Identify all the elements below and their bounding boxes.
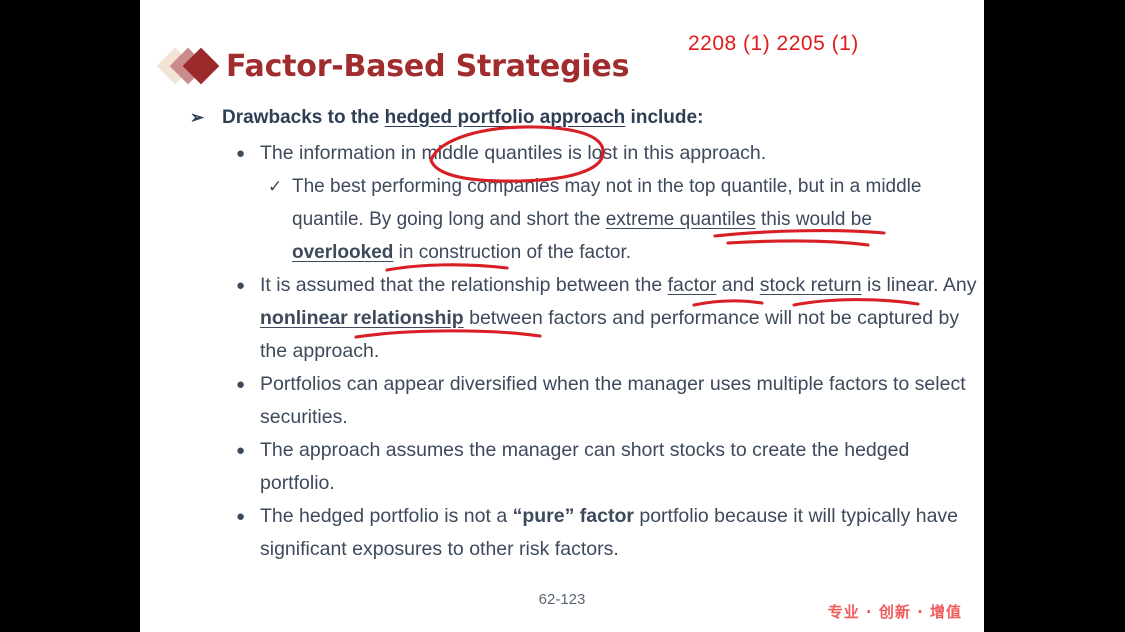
heading-suffix: include:	[625, 107, 703, 128]
bullet-text-a: The hedged portfolio is not a	[260, 505, 513, 527]
list-item: ●The hedged portfolio is not a “pure” fa…	[188, 500, 978, 566]
bullet-text-e: is linear. Any	[862, 274, 977, 296]
dot-bullet-icon: ●	[236, 500, 245, 533]
sub-text-b: extreme quantiles	[606, 209, 756, 230]
bullet-text-a: It is assumed that the relationship betw…	[260, 274, 668, 296]
bullet-text: The information in middle quantiles is l…	[260, 142, 766, 164]
heading-prefix: Drawbacks to the	[222, 107, 385, 128]
bullet-text: The approach assumes the manager can sho…	[260, 439, 909, 494]
list-item: ●The approach assumes the manager can sh…	[188, 434, 978, 500]
sub-text-e: in construction of the factor.	[393, 242, 631, 263]
bullet-text-b: “pure” factor	[513, 505, 634, 527]
dot-bullet-icon: ●	[236, 137, 245, 170]
dot-bullet-icon: ●	[236, 269, 245, 302]
list-item: ●Portfolios can appear diversified when …	[188, 368, 978, 434]
bullet-text-c: and	[716, 274, 759, 296]
dot-bullet-icon: ●	[236, 368, 245, 401]
bullet-text-b: factor	[668, 274, 717, 296]
heading-underlined: hedged portfolio approach	[385, 107, 626, 128]
slide-body: ➢Drawbacks to the hedged portfolio appro…	[188, 104, 978, 566]
brand-tagline: 专业 · 创新 · 增值	[828, 601, 962, 622]
slide-title-row: Factor-Based Strategies	[162, 40, 629, 92]
bullet-text: Portfolios can appear diversified when t…	[260, 373, 966, 428]
arrow-bullet-icon: ➢	[190, 104, 204, 131]
check-bullet-icon: ✓	[268, 170, 282, 203]
bullet-text-d: stock return	[760, 274, 862, 296]
red-annotation-note: 2208 (1) 2205 (1)	[688, 32, 859, 56]
screenshot-root: Factor-Based Strategies 2208 (1) 2205 (1…	[0, 0, 1125, 632]
bullet-text-f: nonlinear relationship	[260, 307, 464, 329]
list-item: ●It is assumed that the relationship bet…	[188, 269, 978, 368]
list-item: ●The information in middle quantiles is …	[188, 137, 978, 170]
list-item-sub: ✓The best performing companies may not i…	[188, 170, 978, 269]
sub-text-d: overlooked	[292, 242, 393, 263]
diamond-logo-icon	[162, 44, 224, 88]
list-item-heading: ➢Drawbacks to the hedged portfolio appro…	[188, 104, 978, 131]
page-title: Factor-Based Strategies	[226, 49, 629, 84]
slide-canvas: Factor-Based Strategies 2208 (1) 2205 (1…	[140, 0, 984, 632]
sub-text-c: this would be	[756, 209, 872, 230]
dot-bullet-icon: ●	[236, 434, 245, 467]
